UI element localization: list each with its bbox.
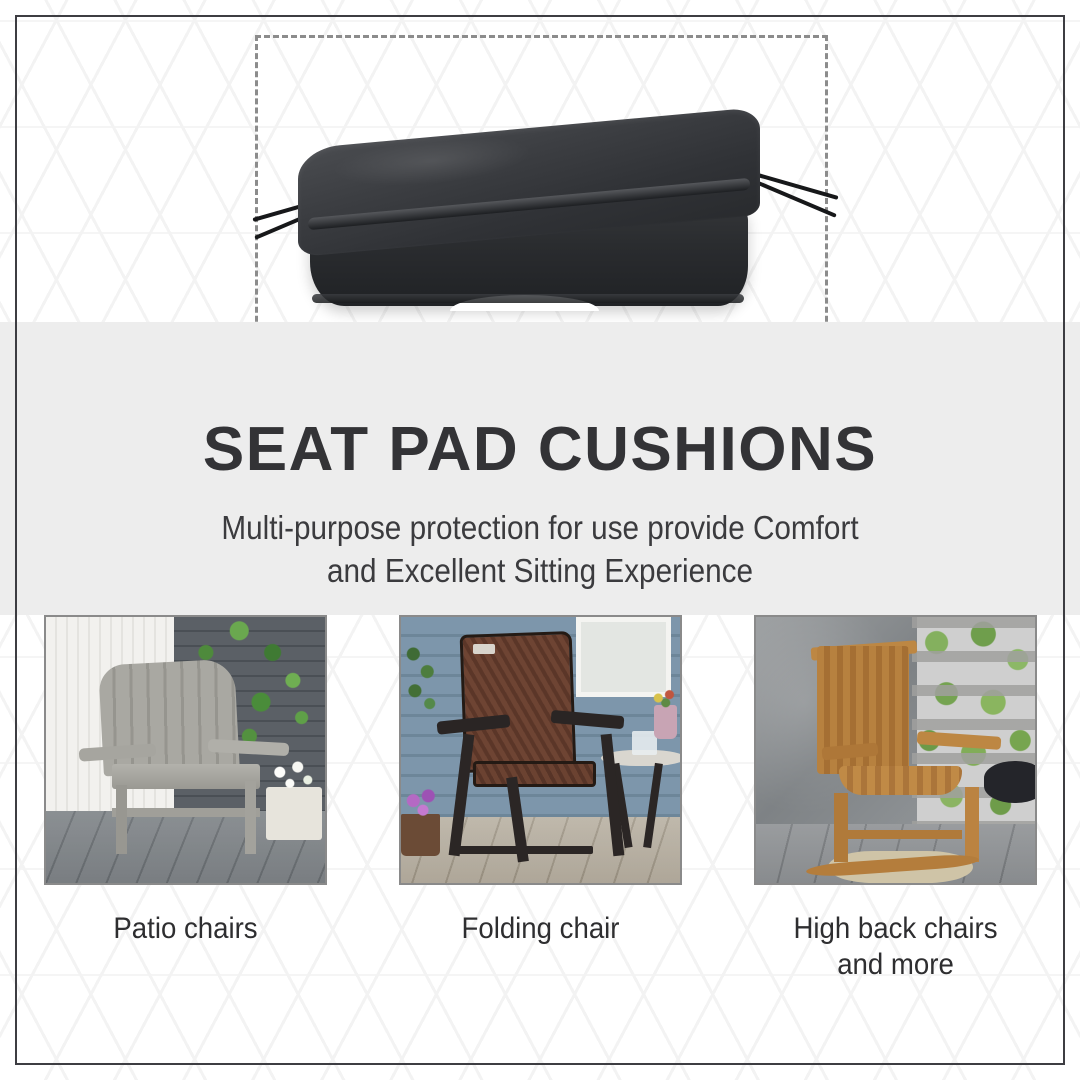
card-caption: Folding chair <box>410 911 670 947</box>
use-case-card-patio-chairs: Patio chairs <box>44 615 327 1080</box>
cushion-body <box>298 128 760 318</box>
caption-line-1: High back chairs <box>793 912 997 945</box>
chair-rail <box>112 808 259 818</box>
caption-line-2: and more <box>837 948 954 981</box>
adirondack-chair <box>90 662 274 854</box>
chair-seat <box>112 764 259 789</box>
rocker-leg-left <box>834 793 848 862</box>
drinking-glass <box>632 731 657 755</box>
subtitle-line-1: Multi-purpose protection for use provide… <box>221 509 858 546</box>
page-title: SEAT PAD CUSHIONS <box>203 414 877 485</box>
photo-patio-chair <box>44 615 327 885</box>
folding-crossbar <box>454 846 594 854</box>
chair-leg-left <box>116 785 127 854</box>
vine-leaves <box>401 638 443 718</box>
card-caption: High back chairs and more <box>765 911 1025 983</box>
rocker-stretcher <box>834 830 962 839</box>
use-case-card-high-back-chairs: High back chairs and more <box>754 615 1037 1080</box>
flower-pot <box>401 814 440 857</box>
hero-product-section <box>0 0 1080 322</box>
brand-badge <box>473 644 495 655</box>
photo-folding-chair <box>399 615 682 885</box>
photo-rocking-chair <box>754 615 1037 885</box>
rocker-seat <box>839 766 962 795</box>
product-image-seat-pad-cushion <box>258 100 828 330</box>
rocker-leg-right <box>965 787 979 861</box>
use-case-cards: Patio chairs Folding chair <box>0 615 1080 1080</box>
house-window <box>576 617 671 697</box>
page-subtitle: Multi-purpose protection for use provide… <box>221 507 858 593</box>
card-caption: Patio chairs <box>55 911 315 947</box>
wire-side-table <box>984 761 1036 804</box>
subtitle-line-2: and Excellent Sitting Experience <box>327 552 753 589</box>
vase-flowers <box>649 686 680 710</box>
use-case-card-folding-chair: Folding chair <box>399 615 682 1080</box>
purple-flowers <box>401 785 446 820</box>
chair-leg-right <box>245 781 256 854</box>
cushion-bottom-seam <box>312 294 744 303</box>
rattan-seat <box>473 761 596 788</box>
chair-backrest <box>98 659 240 777</box>
headline-band: SEAT PAD CUSHIONS Multi-purpose protecti… <box>0 322 1080 615</box>
